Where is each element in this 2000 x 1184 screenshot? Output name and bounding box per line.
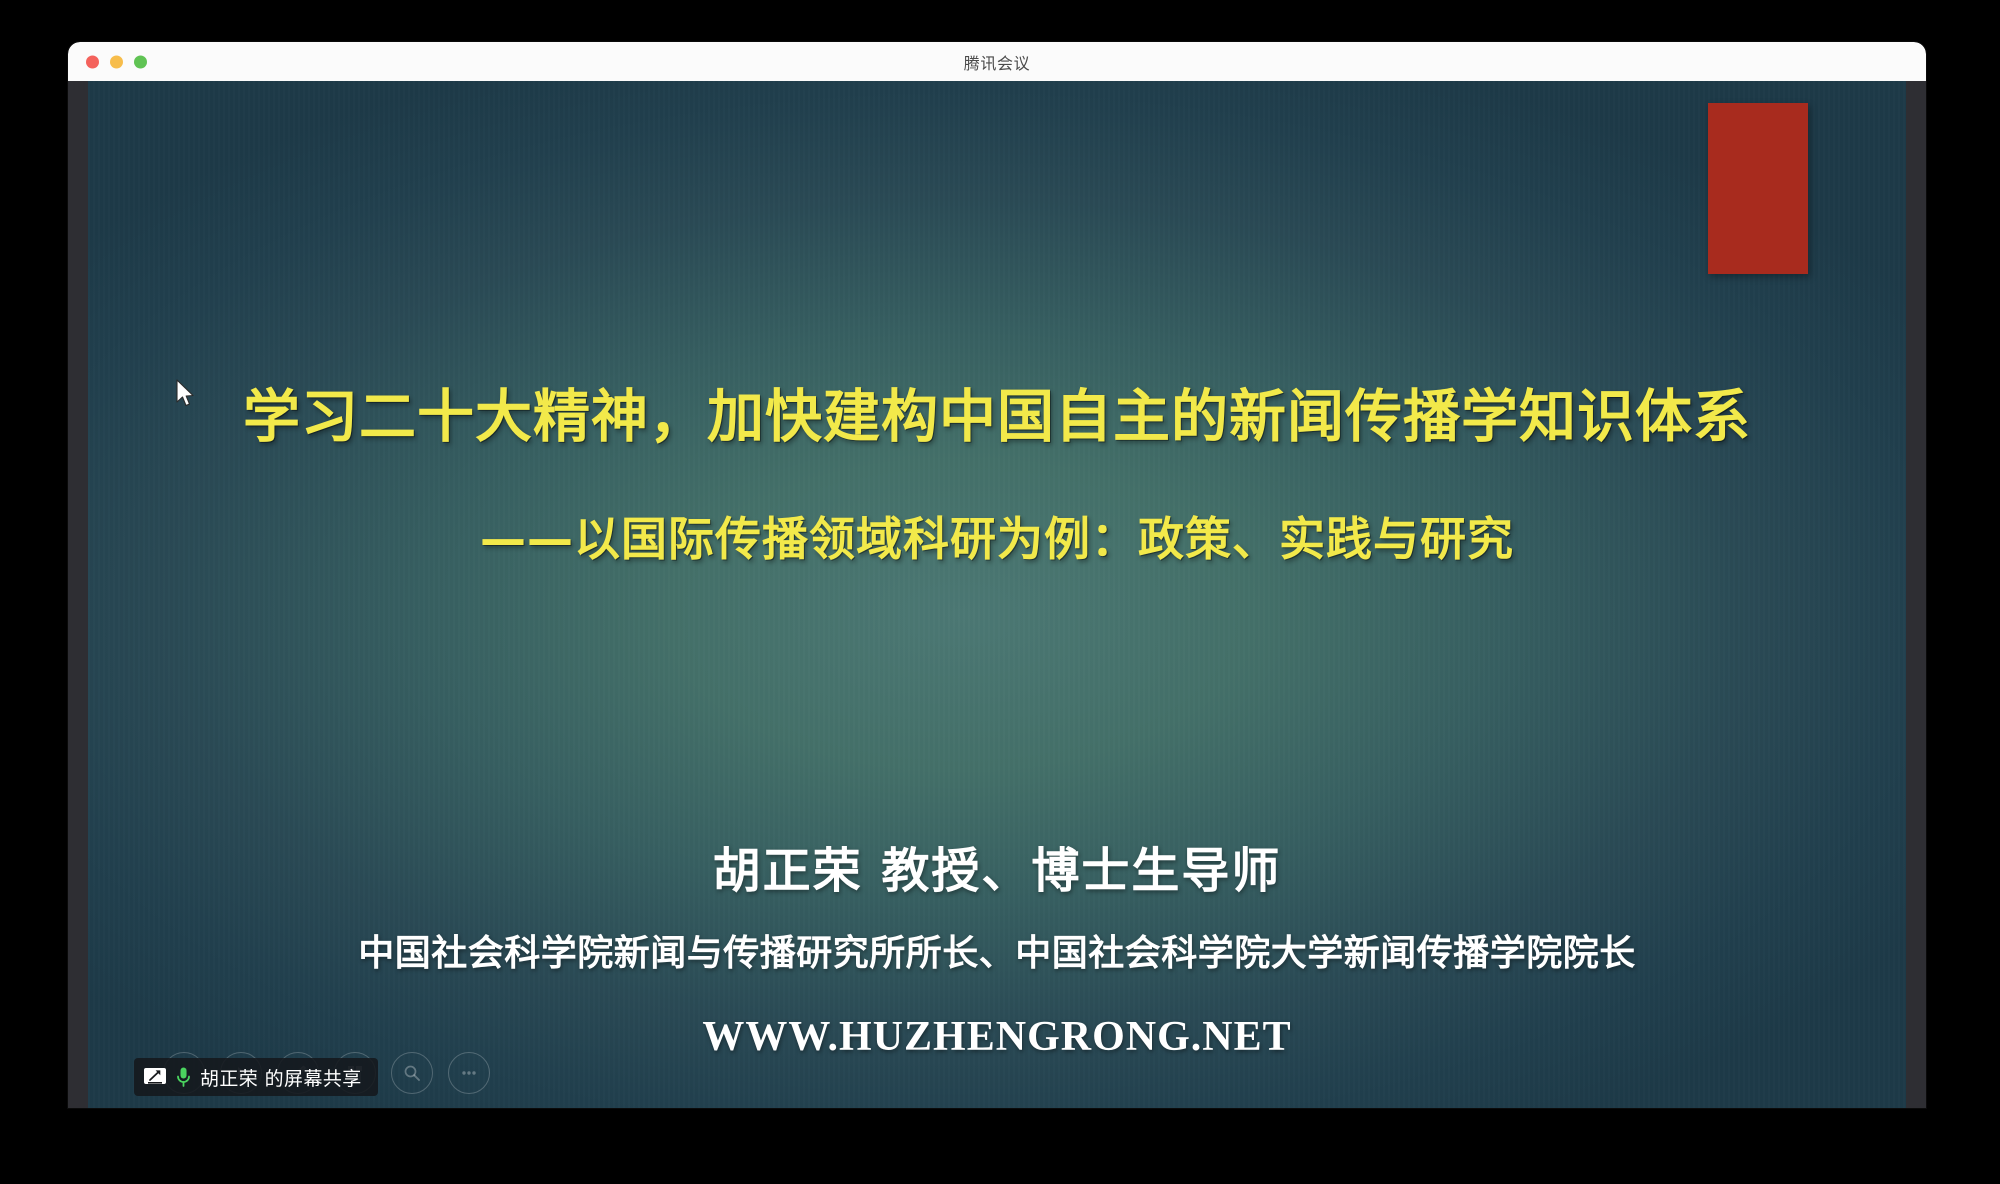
screen-share-status-label: 胡正荣 的屏幕共享 — [200, 1064, 362, 1091]
ellipsis-icon — [460, 1064, 478, 1082]
maximize-button[interactable] — [134, 55, 147, 68]
minimize-button[interactable] — [110, 55, 123, 68]
screen-share-icon — [143, 1067, 167, 1087]
slide-letterbox-right — [1906, 81, 1926, 1108]
presenter-name: 胡正荣 教授、博士生导师 — [88, 831, 1906, 901]
screen-share-status-bar[interactable]: 胡正荣 的屏幕共享 — [134, 1058, 378, 1096]
traffic-light-controls — [86, 55, 147, 68]
shared-screen-area: 学习二十大精神，加快建构中国自主的新闻传播学知识体系 ——以国际传播领域科研为例… — [68, 81, 1926, 1108]
slide-title: 学习二十大精神，加快建构中国自主的新闻传播学知识体系 — [88, 387, 1906, 449]
more-options-button[interactable] — [448, 1052, 490, 1094]
microphone-icon — [176, 1066, 191, 1088]
magnifier-icon — [403, 1064, 421, 1082]
tencent-meeting-window: 腾讯会议 学习二十大精神，加快建构中国自主的新闻传播学知识体系 ——以国际传播领… — [68, 42, 1926, 1108]
slide-subtitle: ——以国际传播领域科研为例：政策、实践与研究 — [88, 514, 1906, 565]
presenter-affiliation: 中国社会科学院新闻与传播研究所所长、中国社会科学院大学新闻传播学院院长 — [88, 924, 1906, 976]
zoom-in-button[interactable] — [391, 1052, 433, 1094]
close-button[interactable] — [86, 55, 99, 68]
window-titlebar: 腾讯会议 — [68, 42, 1926, 81]
screen-root: 腾讯会议 学习二十大精神，加快建构中国自主的新闻传播学知识体系 ——以国际传播领… — [0, 0, 2000, 1184]
slide-letterbox-left — [68, 81, 88, 1108]
presentation-slide: 学习二十大精神，加快建构中国自主的新闻传播学知识体系 ——以国际传播领域科研为例… — [88, 81, 1906, 1108]
window-title: 腾讯会议 — [964, 50, 1030, 74]
